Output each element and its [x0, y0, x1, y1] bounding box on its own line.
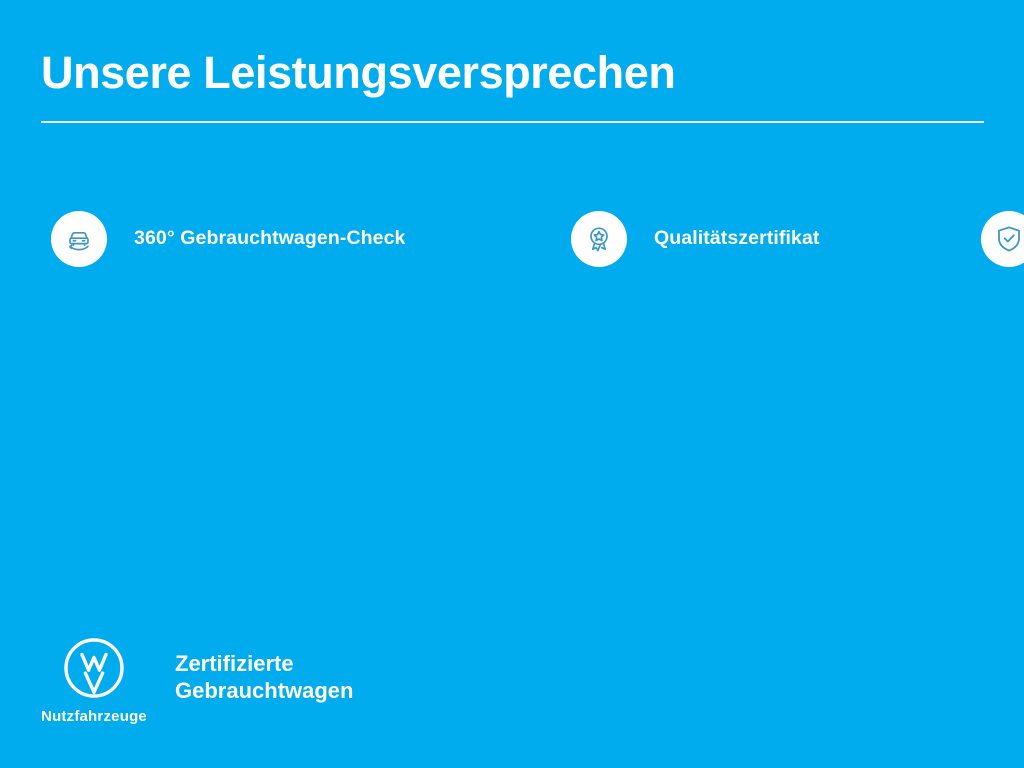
promise-item-qualitaetszertifikat: Qualitätszertifikat: [571, 200, 981, 277]
promises-grid: 360° Gebrauchtwagen-Check Qualitätszerti…: [51, 200, 981, 277]
promise-item-gebrauchtwagen-check: 360° Gebrauchtwagen-Check: [51, 200, 571, 277]
promise-item-gebrauchtwagengarantie: Gebrauchtwagengarantie: [981, 200, 1024, 277]
vw-roundel-icon: [62, 636, 126, 700]
header-divider: [41, 121, 984, 123]
header: Unsere Leistungsversprechen: [41, 48, 984, 123]
shield-check-icon: [981, 211, 1024, 267]
promise-label: Qualitätszertifikat: [654, 227, 820, 250]
brand-sub-label: Nutzfahrzeuge: [41, 708, 147, 725]
car-360-check-icon: [51, 211, 107, 267]
page-title: Unsere Leistungsversprechen: [41, 48, 984, 98]
brand-mark: Nutzfahrzeuge: [40, 636, 148, 725]
brand-lockup: Nutzfahrzeuge Zertifizierte Gebrauchtwag…: [40, 636, 353, 725]
brand-claim: Zertifizierte Gebrauchtwagen: [175, 650, 353, 704]
leistungsversprechen-slide: Unsere Leistungsversprechen 360° Gebrauc…: [0, 0, 1024, 768]
brand-claim-line-2: Gebrauchtwagen: [175, 677, 353, 704]
promise-label: 360° Gebrauchtwagen-Check: [134, 227, 405, 250]
award-rosette-icon: [571, 211, 627, 267]
brand-claim-line-1: Zertifizierte: [175, 650, 353, 677]
